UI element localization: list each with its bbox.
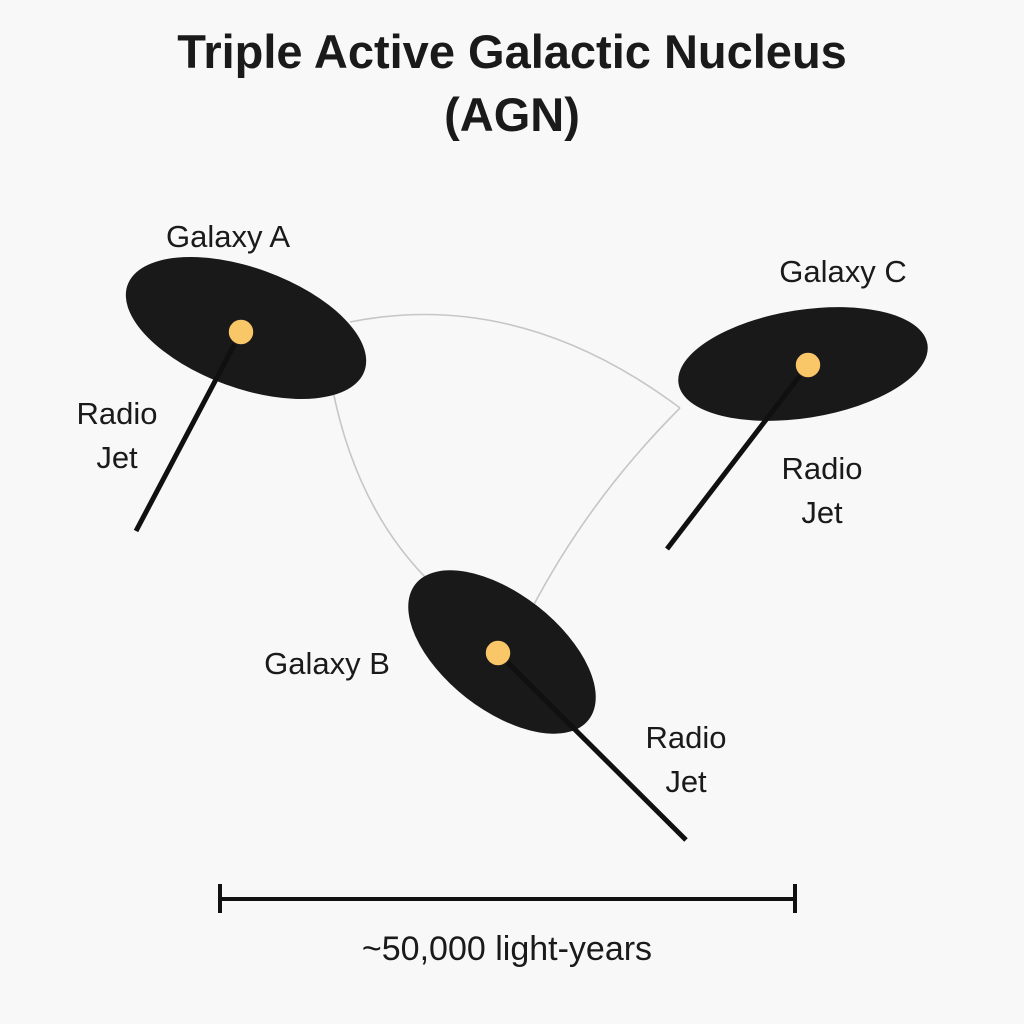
galaxy-a-jet-label-line-2: Jet	[96, 440, 138, 475]
galaxy-c-label: Galaxy C	[779, 254, 906, 289]
galaxy-b-label: Galaxy B	[264, 646, 390, 681]
galaxy-b-nucleus	[485, 640, 511, 666]
galaxy-a-label: Galaxy A	[166, 219, 290, 254]
galaxy-b-jet-label-line-2: Jet	[665, 764, 707, 799]
agn-diagram: Triple Active Galactic Nucleus (AGN) Gal…	[0, 0, 1024, 1024]
galaxy-c-jet-label-line-1: Radio	[782, 451, 863, 486]
figure-title-line-2: (AGN)	[444, 88, 580, 141]
background	[0, 0, 1024, 1024]
figure-canvas: Triple Active Galactic Nucleus (AGN) Gal…	[0, 0, 1024, 1024]
galaxy-a-jet-label-line-1: Radio	[77, 396, 158, 431]
galaxy-b-jet-label-line-1: Radio	[646, 720, 727, 755]
galaxy-c-jet-label-line-2: Jet	[801, 495, 843, 530]
scale-bar-label: ~50,000 light-years	[362, 930, 652, 968]
galaxy-a-nucleus	[228, 319, 254, 345]
galaxy-c-nucleus	[795, 352, 821, 378]
figure-title-line-1: Triple Active Galactic Nucleus	[177, 25, 847, 78]
